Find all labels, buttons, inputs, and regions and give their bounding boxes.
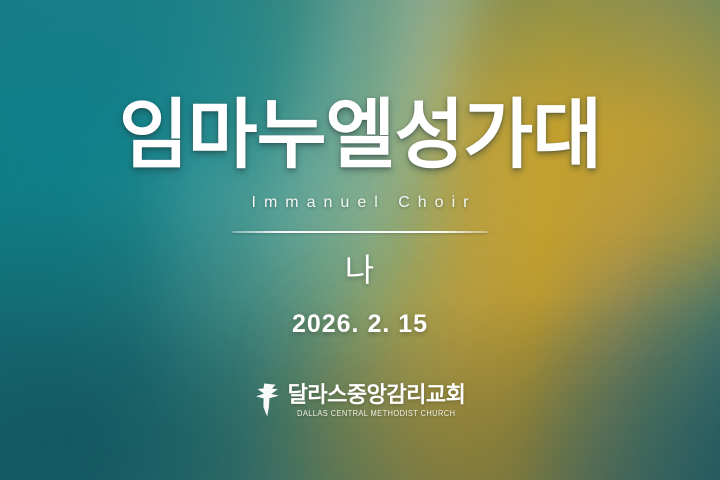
cross-icon: [255, 383, 281, 417]
song-title: 나: [345, 254, 375, 286]
church-logo-inner: 달라스중앙감리교회 DALLAS CENTRAL METHODIST CHURC…: [255, 382, 466, 419]
choir-title-korean: 임마누엘성가대: [119, 98, 601, 174]
choir-title-english: Immanuel Choir: [244, 194, 477, 212]
worship-slide: 임마누엘성가대 Immanuel Choir 나 2026. 2. 15 달라스…: [0, 0, 720, 480]
church-name-english: DALLAS CENTRAL METHODIST CHURCH: [297, 409, 455, 419]
title-divider: [232, 231, 488, 233]
church-name-block: 달라스중앙감리교회 DALLAS CENTRAL METHODIST CHURC…: [288, 382, 466, 419]
church-name-korean: 달라스중앙감리교회: [288, 382, 466, 407]
church-logo: 달라스중앙감리교회 DALLAS CENTRAL METHODIST CHURC…: [0, 382, 720, 419]
service-date: 2026. 2. 15: [292, 312, 428, 337]
